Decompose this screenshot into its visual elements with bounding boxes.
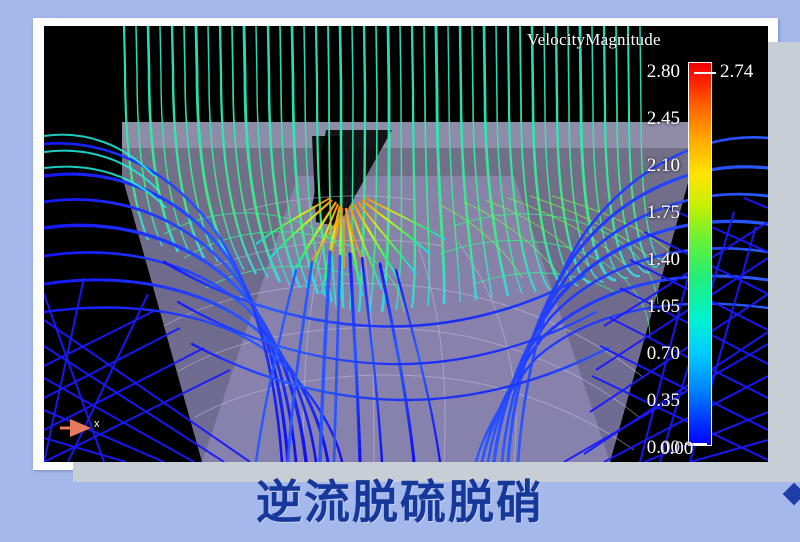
legend-title: VelocityMagnitude [527, 30, 661, 50]
colorbar-tick-label: 2.10 [647, 156, 680, 175]
axis-arrow-icon [58, 416, 128, 450]
colorbar-tick-label: 1.05 [647, 297, 680, 316]
colorbar-tick-label: 1.75 [647, 203, 680, 222]
colorbar-tick-label: 2.80 [647, 62, 680, 81]
colorbar-tick-label: 1.40 [647, 250, 680, 269]
colorbar-min-label: 0.00 [660, 438, 693, 460]
colorbar-tick-label: 2.45 [647, 109, 680, 128]
colorbar[interactable]: 2.74 0.00 [688, 62, 712, 462]
slide-caption: 逆流脱硫脱硝 [0, 478, 800, 526]
orientation-axis-widget: x [58, 416, 128, 450]
cfd-render-canvas[interactable]: VelocityMagnitude 2.80 2.45 2.10 1.75 1.… [44, 26, 768, 462]
colorbar-tick-labels: 2.80 2.45 2.10 1.75 1.40 1.05 0.70 0.35 … [576, 62, 680, 446]
axis-x-label: x [94, 418, 100, 430]
colorbar-max-label: 2.74 [720, 61, 753, 83]
colorbar-max-tick [694, 72, 716, 74]
slide-root: VelocityMagnitude 2.80 2.45 2.10 1.75 1.… [0, 0, 800, 542]
colorbar-tick-label: 0.70 [647, 344, 680, 363]
colorbar-tick-label: 0.35 [647, 391, 680, 410]
colorbar-gradient [688, 62, 712, 446]
